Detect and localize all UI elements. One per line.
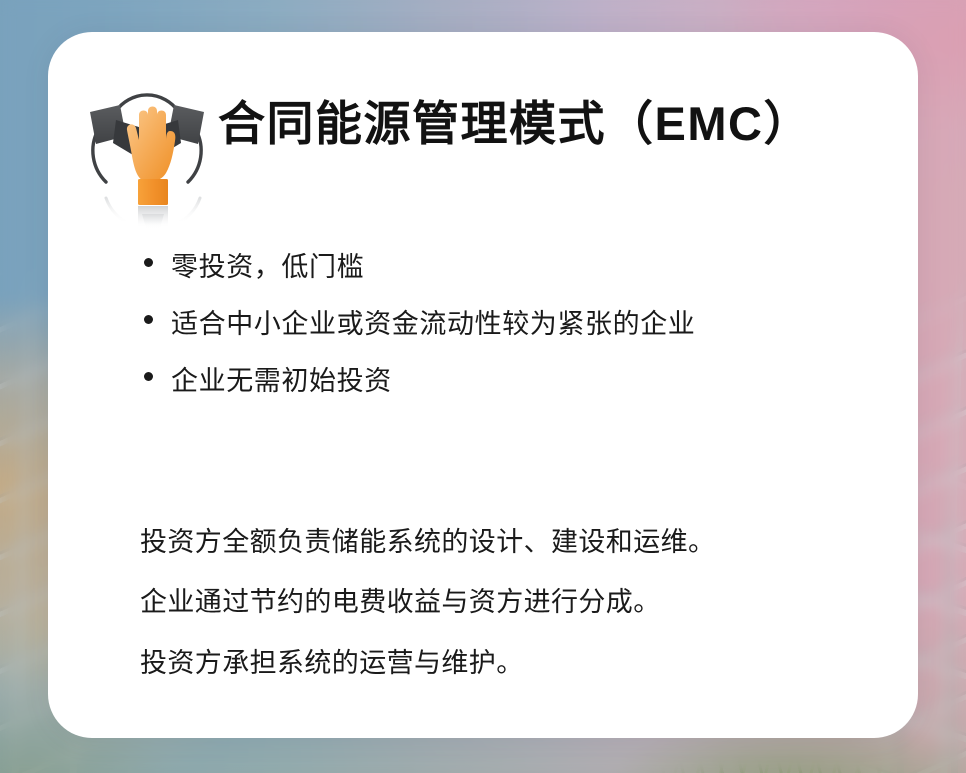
list-item: 零投资，低门槛 [144, 250, 884, 285]
hand-in-circle-arrows-icon [80, 78, 214, 228]
description-block: 投资方全额负责储能系统的设计、建设和运维。 企业通过节约的电费收益与资方进行分成… [140, 524, 900, 681]
description-line: 投资方承担系统的运营与维护。 [140, 645, 900, 681]
bullet-dot-icon [144, 315, 153, 324]
list-item: 适合中小企业或资金流动性较为紧张的企业 [144, 307, 884, 342]
description-line: 企业通过节约的电费收益与资方进行分成。 [140, 584, 900, 620]
bullet-text: 企业无需初始投资 [171, 364, 392, 399]
bullet-text: 零投资，低门槛 [171, 250, 364, 285]
bullet-dot-icon [144, 258, 153, 267]
list-item: 企业无需初始投资 [144, 364, 884, 399]
page-title: 合同能源管理模式（EMC） [218, 100, 812, 147]
feature-bullet-list: 零投资，低门槛 适合中小企业或资金流动性较为紧张的企业 企业无需初始投资 [144, 250, 884, 399]
bullet-text: 适合中小企业或资金流动性较为紧张的企业 [171, 307, 695, 342]
content-card: 合同能源管理模式（EMC） 零投资，低门槛 适合中小企业或资金流动性较为紧张的企… [48, 32, 918, 738]
description-line: 投资方全额负责储能系统的设计、建设和运维。 [140, 524, 900, 560]
bullet-dot-icon [144, 372, 153, 381]
card-header: 合同能源管理模式（EMC） [48, 32, 918, 232]
slide-canvas: 合同能源管理模式（EMC） 零投资，低门槛 适合中小企业或资金流动性较为紧张的企… [0, 0, 966, 773]
